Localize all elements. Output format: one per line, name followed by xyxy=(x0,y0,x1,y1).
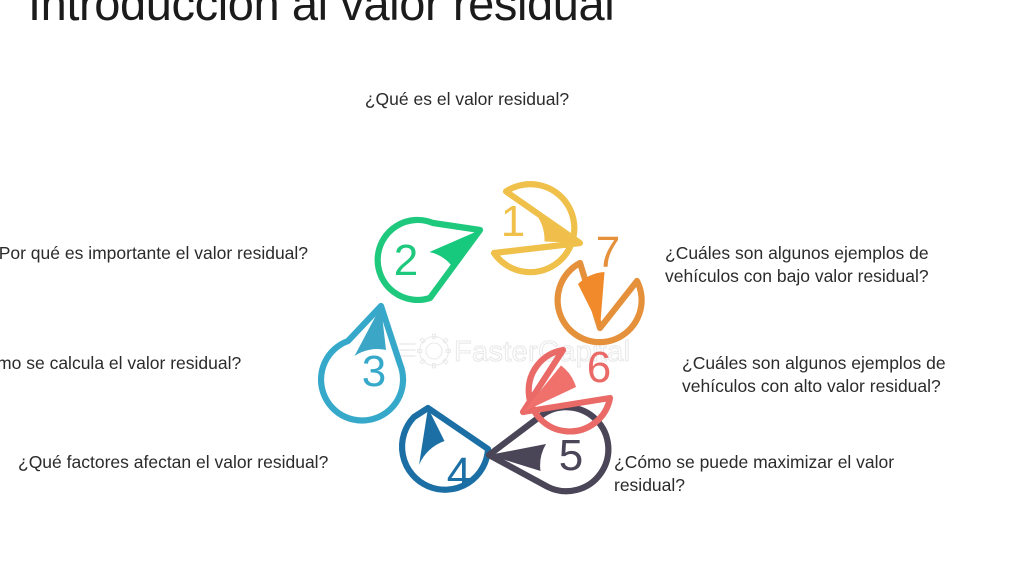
callout-step-6-line1: ¿Cuáles son algunos ejemplos de xyxy=(682,352,1002,375)
diagram-step-4[interactable]: 4 xyxy=(402,408,488,498)
diagram-step-6[interactable]: 6 xyxy=(523,343,611,431)
callout-step-6: ¿Cuáles son algunos ejemplos de vehículo… xyxy=(682,352,1002,398)
step-6-number: 6 xyxy=(587,343,611,392)
step-2-number: 2 xyxy=(394,236,418,285)
step-1-number: 1 xyxy=(501,197,525,246)
slide-canvas: Introducción al valor residual ¿Qué es e… xyxy=(0,0,1024,576)
callout-step-1: ¿Qué es el valor residual? xyxy=(317,88,617,111)
circular-process-diagram: 1 2 3 4 xyxy=(318,168,708,548)
callout-step-3: ¿Cómo se calcula el valor residual? xyxy=(0,352,294,375)
diagram-step-3[interactable]: 3 xyxy=(321,306,403,421)
step-7-arrowhead xyxy=(578,272,605,328)
callout-step-6-line2: vehículos con alto valor residual? xyxy=(682,375,1002,398)
diagram-step-1[interactable]: 1 xyxy=(494,184,580,272)
diagram-step-5[interactable]: 5 xyxy=(489,407,608,491)
step-2-arrowhead xyxy=(430,230,481,269)
step-3-number: 3 xyxy=(362,347,386,396)
step-4-number: 4 xyxy=(447,449,471,498)
step-5-teardrop xyxy=(489,407,608,491)
step-5-number: 5 xyxy=(559,431,583,480)
callout-step-7: ¿Cuáles son algunos ejemplos de vehículo… xyxy=(665,242,995,288)
callout-step-7-line1: ¿Cuáles son algunos ejemplos de xyxy=(665,242,995,265)
step-7-number: 7 xyxy=(596,228,620,277)
callout-step-7-line2: vehículos con bajo valor residual? xyxy=(665,265,995,288)
page-title: Introducción al valor residual xyxy=(28,0,614,31)
diagram-step-2[interactable]: 2 xyxy=(378,220,480,300)
step-4-teardrop xyxy=(402,408,488,490)
